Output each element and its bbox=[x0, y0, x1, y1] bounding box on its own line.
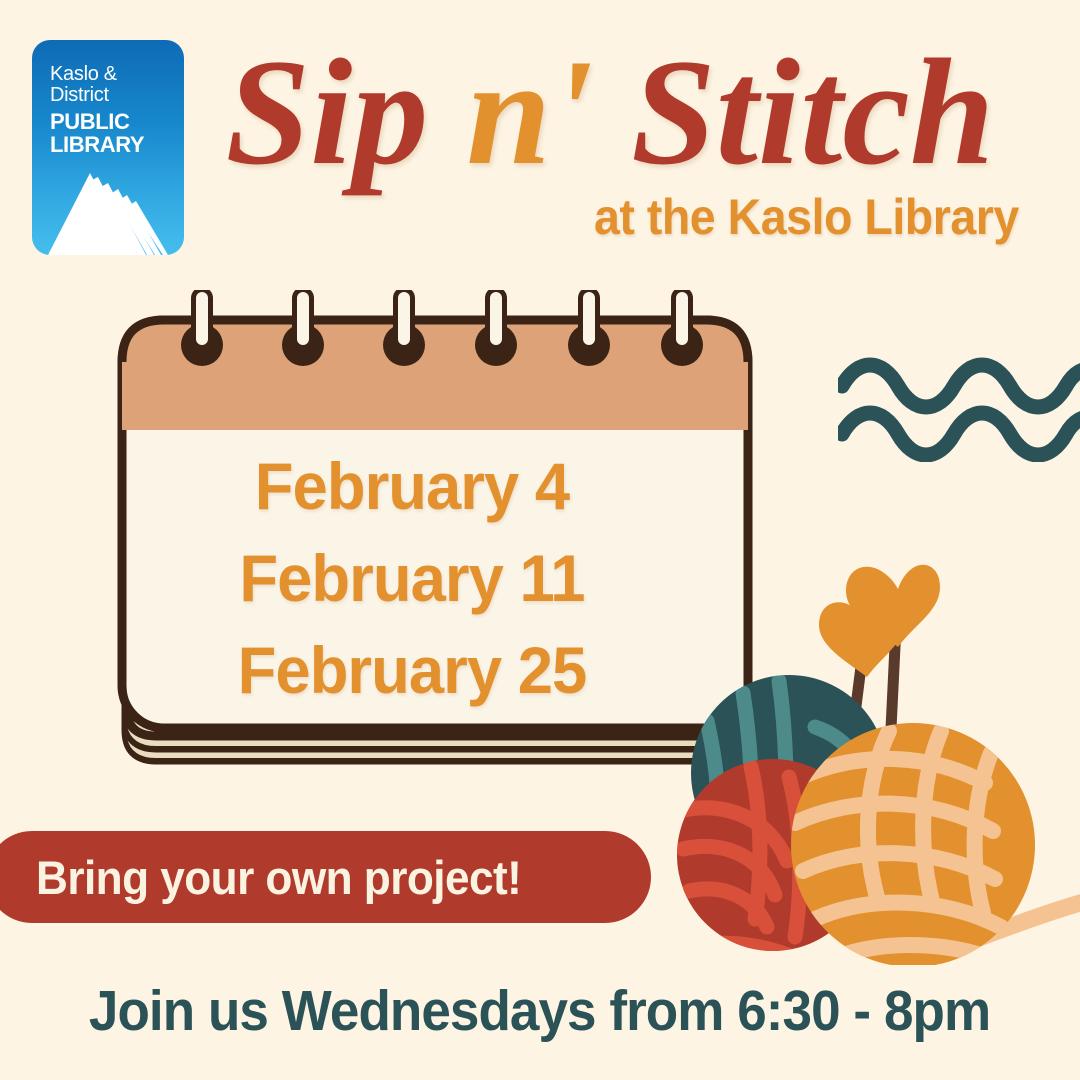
logo-line-2: District bbox=[50, 85, 144, 106]
title-block: Sip n' Stitch at the Kaslo Library bbox=[195, 28, 1025, 258]
wavy-lines-icon bbox=[838, 352, 1080, 462]
calendar-date-item: February 25 bbox=[124, 624, 700, 716]
poster-canvas: Kaslo & District PUBLIC LIBRARY Sip n' S… bbox=[0, 0, 1080, 1080]
logo-line-3: PUBLIC bbox=[50, 110, 144, 134]
mountain-icon bbox=[32, 163, 184, 255]
banner-label: Bring your own project! bbox=[36, 850, 521, 905]
logo-text-block: Kaslo & District PUBLIC LIBRARY bbox=[50, 64, 144, 157]
logo-line-4: LIBRARY bbox=[50, 133, 144, 157]
title-accent: n' bbox=[466, 28, 593, 196]
title-part-2: Stitch bbox=[593, 28, 994, 196]
calendar-date-item: February 4 bbox=[124, 440, 700, 532]
page-subtitle: at the Kaslo Library bbox=[594, 188, 1019, 246]
title-part-1: Sip bbox=[226, 28, 467, 196]
yarn-balls-icon bbox=[655, 515, 1080, 965]
bring-project-banner: Bring your own project! bbox=[0, 831, 651, 923]
library-logo[interactable]: Kaslo & District PUBLIC LIBRARY bbox=[32, 40, 184, 255]
logo-line-1: Kaslo & bbox=[50, 64, 144, 85]
page-title: Sip n' Stitch bbox=[195, 28, 1025, 196]
schedule-footer: Join us Wednesdays from 6:30 - 8pm bbox=[0, 978, 1080, 1044]
schedule-text: Join us Wednesdays from 6:30 - 8pm bbox=[89, 978, 990, 1044]
calendar-dates-list: February 4 February 11 February 25 bbox=[112, 440, 712, 716]
orange-yarn-ball bbox=[791, 723, 1035, 965]
calendar-date-item: February 11 bbox=[124, 532, 700, 624]
